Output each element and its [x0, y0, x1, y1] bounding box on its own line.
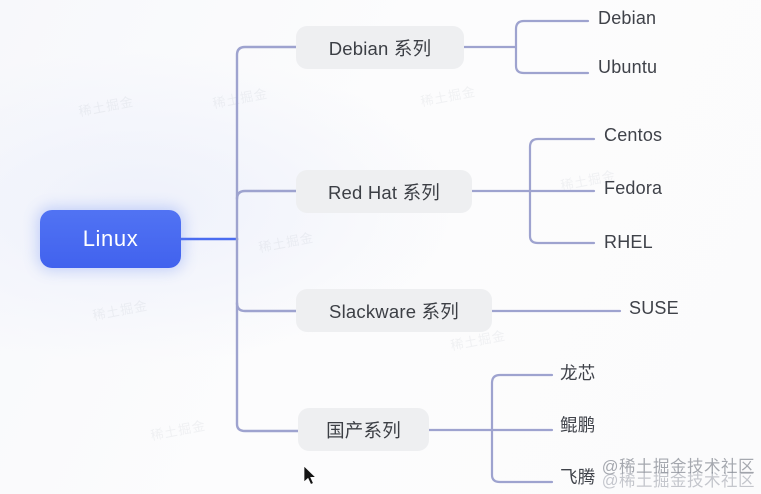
leaf-node-loongson[interactable]: 龙芯	[560, 360, 595, 385]
leaf-node-label: SUSE	[629, 298, 679, 319]
branch-node-label: Red Hat 系列	[328, 179, 440, 205]
leaf-node-label: 龙芯	[560, 360, 595, 385]
leaf-node-label: 飞腾	[560, 464, 595, 489]
leaf-node-label: 鲲鹏	[560, 412, 595, 437]
leaf-node-centos[interactable]: Centos	[604, 125, 662, 146]
watermark-secondary-text: @稀土掘金技术社区	[602, 473, 755, 490]
connector-branch-3	[237, 303, 296, 311]
leaf-node-phytium[interactable]: 飞腾	[560, 464, 595, 489]
leaf-node-fedora[interactable]: Fedora	[604, 178, 662, 199]
leaf-node-ubuntu[interactable]: Ubuntu	[598, 57, 657, 78]
leaf-node-suse[interactable]: SUSE	[629, 298, 679, 319]
leaf-node-kunpeng[interactable]: 鲲鹏	[560, 412, 595, 437]
root-node-label: Linux	[83, 226, 139, 252]
corner-watermark: @稀土掘金技术社区 @稀土掘金技术社区	[602, 459, 755, 490]
branch-node-label: Slackware 系列	[329, 298, 459, 324]
root-node-linux[interactable]: Linux	[40, 210, 181, 268]
connector-debian-bracket	[516, 21, 588, 73]
leaf-node-label: Centos	[604, 125, 662, 146]
branch-node-redhat-series[interactable]: Red Hat 系列	[296, 170, 472, 213]
mindmap-canvas: 稀土掘金 稀土掘金 稀土掘金 稀土掘金 稀土掘金 稀土掘金 稀土掘金 稀土掘金 …	[0, 0, 761, 494]
leaf-node-label: Ubuntu	[598, 57, 657, 78]
connector-spine	[237, 47, 298, 431]
leaf-node-label: Fedora	[604, 178, 662, 199]
connector-branch-2	[237, 191, 296, 199]
branch-node-debian-series[interactable]: Debian 系列	[296, 26, 464, 69]
branch-node-domestic-series[interactable]: 国产系列	[298, 408, 429, 451]
connector-domestic-bracket	[492, 375, 552, 482]
leaf-node-label: RHEL	[604, 232, 653, 253]
mouse-cursor-icon	[304, 466, 318, 486]
branch-node-label: 国产系列	[326, 417, 401, 443]
leaf-node-rhel[interactable]: RHEL	[604, 232, 653, 253]
branch-node-slackware-series[interactable]: Slackware 系列	[296, 289, 492, 332]
leaf-node-label: Debian	[598, 8, 656, 29]
leaf-node-debian[interactable]: Debian	[598, 8, 656, 29]
branch-node-label: Debian 系列	[329, 35, 432, 61]
